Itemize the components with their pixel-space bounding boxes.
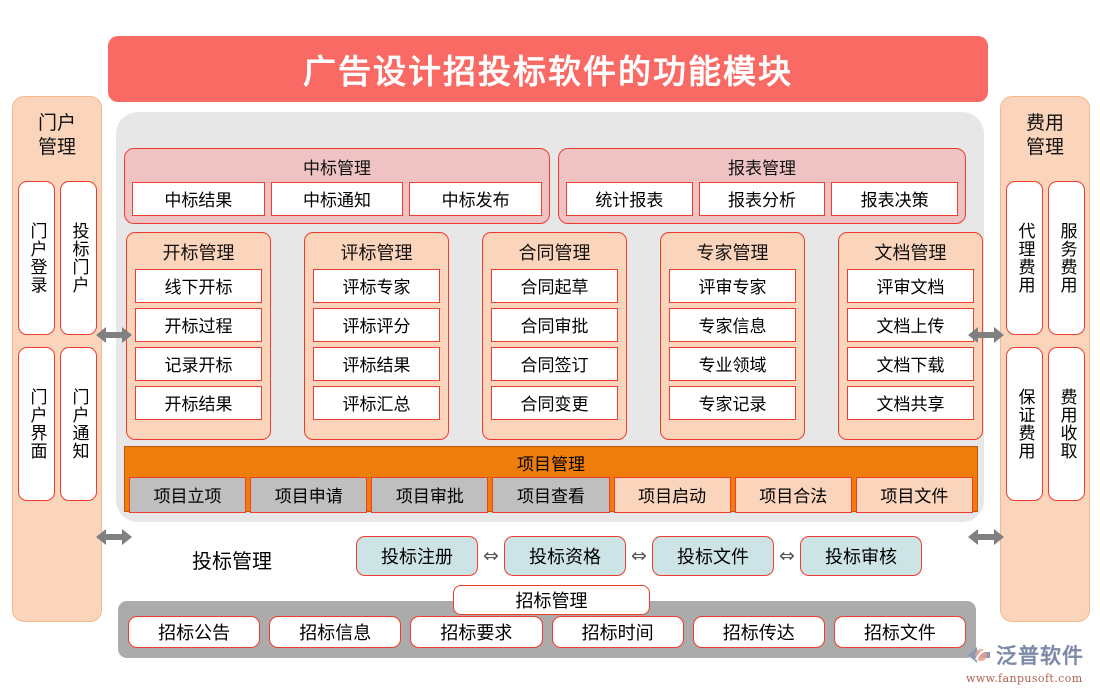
bid-opening-item-2[interactable]: 开标过程	[135, 308, 262, 342]
award-management-title: 中标管理	[125, 149, 549, 182]
fee-row-2: 保证费用 费用收取	[1007, 347, 1083, 487]
project-item-4[interactable]: 项目查看	[492, 477, 609, 513]
bidding-management-label: 投标管理	[192, 545, 272, 574]
bid-opening-items: 线下开标 开标过程 记录开标 开标结果	[135, 269, 262, 420]
project-item-3[interactable]: 项目审批	[371, 477, 488, 513]
contract-item-4[interactable]: 合同变更	[491, 386, 618, 420]
expert-item-4[interactable]: 专家记录	[669, 386, 796, 420]
fanpu-logo-icon	[966, 643, 992, 667]
connector-arrow-right-top-icon	[968, 325, 1004, 345]
brand-logo: 泛普软件 www.fanpusoft.com	[966, 636, 1092, 688]
document-item-3[interactable]: 文档下载	[847, 347, 974, 381]
fee-item-collection[interactable]: 费用收取	[1048, 347, 1085, 501]
award-item-notice[interactable]: 中标通知	[271, 182, 404, 216]
portal-management-panel[interactable]: 门户 管理 门户登录 投标门户 门户界面 门户通知	[12, 96, 102, 622]
bid-opening-item-3[interactable]: 记录开标	[135, 347, 262, 381]
portal-item-login[interactable]: 门户登录	[18, 181, 55, 335]
bid-opening-title: 开标管理	[163, 233, 235, 269]
connector-arrow-left-bottom-icon	[96, 527, 132, 547]
contract-item-1[interactable]: 合同起草	[491, 269, 618, 303]
project-management-bar[interactable]: 项目管理 项目立项 项目申请 项目审批 项目查看 项目启动 项目合法 项目文件	[124, 446, 978, 512]
bid-evaluation-item-3[interactable]: 评标结果	[313, 347, 440, 381]
fee-management-title: 费用 管理	[1001, 97, 1089, 159]
bid-evaluation-item-2[interactable]: 评标评分	[313, 308, 440, 342]
portal-item-interface[interactable]: 门户界面	[18, 347, 55, 501]
expert-management-module[interactable]: 专家管理 评审专家 专家信息 专业领域 专家记录	[660, 232, 805, 440]
report-management-group[interactable]: 报表管理 统计报表 报表分析 报表决策	[558, 148, 966, 224]
bid-evaluation-item-1[interactable]: 评标专家	[313, 269, 440, 303]
portal-management-title: 门户 管理	[13, 97, 101, 159]
tender-item-5[interactable]: 招标传达	[693, 616, 825, 648]
award-item-result[interactable]: 中标结果	[132, 182, 265, 216]
bidding-arrow-icon-1: ⇔	[478, 547, 504, 566]
contract-management-title: 合同管理	[519, 233, 591, 269]
expert-item-3[interactable]: 专业领域	[669, 347, 796, 381]
portal-item-notice[interactable]: 门户通知	[60, 347, 97, 501]
report-management-title: 报表管理	[559, 149, 965, 182]
project-management-items: 项目立项 项目申请 项目审批 项目查看 项目启动 项目合法 项目文件	[125, 477, 977, 513]
report-management-items: 统计报表 报表分析 报表决策	[559, 182, 965, 223]
brand-name: 泛普软件	[996, 640, 1084, 670]
bid-evaluation-item-4[interactable]: 评标汇总	[313, 386, 440, 420]
contract-item-2[interactable]: 合同审批	[491, 308, 618, 342]
fee-item-deposit[interactable]: 保证费用	[1006, 347, 1043, 501]
report-item-analysis[interactable]: 报表分析	[699, 182, 826, 216]
project-item-6[interactable]: 项目合法	[735, 477, 852, 513]
bidding-item-review[interactable]: 投标审核	[800, 536, 922, 576]
tender-management-items: 招标公告 招标信息 招标要求 招标时间 招标传达 招标文件	[128, 616, 966, 648]
expert-management-title: 专家管理	[697, 233, 769, 269]
project-management-title: 项目管理	[125, 447, 977, 477]
bid-opening-item-1[interactable]: 线下开标	[135, 269, 262, 303]
contract-item-3[interactable]: 合同签订	[491, 347, 618, 381]
project-item-2[interactable]: 项目申请	[250, 477, 367, 513]
project-item-5[interactable]: 项目启动	[614, 477, 731, 513]
bidding-arrow-icon-2: ⇔	[626, 547, 652, 566]
document-management-items: 评审文档 文档上传 文档下载 文档共享	[847, 269, 974, 420]
document-item-2[interactable]: 文档上传	[847, 308, 974, 342]
bidding-item-register[interactable]: 投标注册	[356, 536, 478, 576]
fee-management-panel[interactable]: 费用 管理 代理费用 服务费用 保证费用 费用收取	[1000, 96, 1090, 622]
connector-arrow-left-top-icon	[96, 325, 132, 345]
tender-item-2[interactable]: 招标信息	[269, 616, 401, 648]
document-item-1[interactable]: 评审文档	[847, 269, 974, 303]
document-item-4[interactable]: 文档共享	[847, 386, 974, 420]
project-item-1[interactable]: 项目立项	[129, 477, 246, 513]
bid-evaluation-title: 评标管理	[341, 233, 413, 269]
bid-evaluation-module[interactable]: 评标管理 评标专家 评标评分 评标结果 评标汇总	[304, 232, 449, 440]
diagram-canvas: 广告设计招投标软件的功能模块 门户 管理 门户登录 投标门户 门户界面 门户通知…	[0, 0, 1100, 700]
report-item-statistics[interactable]: 统计报表	[566, 182, 693, 216]
expert-item-1[interactable]: 评审专家	[669, 269, 796, 303]
tender-item-1[interactable]: 招标公告	[128, 616, 260, 648]
page-title: 广告设计招投标软件的功能模块	[108, 36, 988, 102]
bid-opening-item-4[interactable]: 开标结果	[135, 386, 262, 420]
award-management-items: 中标结果 中标通知 中标发布	[125, 182, 549, 223]
document-management-title: 文档管理	[875, 233, 947, 269]
award-item-publish[interactable]: 中标发布	[409, 182, 542, 216]
tender-management-label: 招标管理	[453, 585, 650, 615]
fee-item-service[interactable]: 服务费用	[1048, 181, 1085, 335]
expert-management-items: 评审专家 专家信息 专业领域 专家记录	[669, 269, 796, 420]
tender-item-4[interactable]: 招标时间	[552, 616, 684, 648]
bidding-item-qualification[interactable]: 投标资格	[504, 536, 626, 576]
connector-arrow-right-bottom-icon	[968, 527, 1004, 547]
bidding-flow-row: 投标注册 ⇔ 投标资格 ⇔ 投标文件 ⇔ 投标审核	[356, 536, 922, 576]
expert-item-2[interactable]: 专家信息	[669, 308, 796, 342]
tender-item-6[interactable]: 招标文件	[834, 616, 966, 648]
tender-item-3[interactable]: 招标要求	[410, 616, 542, 648]
fee-row-1: 代理费用 服务费用	[1007, 181, 1083, 321]
document-management-module[interactable]: 文档管理 评审文档 文档上传 文档下载 文档共享	[838, 232, 983, 440]
brand-url: www.fanpusoft.com	[966, 672, 1083, 685]
project-item-7[interactable]: 项目文件	[856, 477, 973, 513]
portal-row-2: 门户界面 门户通知	[19, 347, 95, 487]
portal-item-bid-portal[interactable]: 投标门户	[60, 181, 97, 335]
award-management-group[interactable]: 中标管理 中标结果 中标通知 中标发布	[124, 148, 550, 224]
report-item-decision[interactable]: 报表决策	[831, 182, 958, 216]
contract-management-items: 合同起草 合同审批 合同签订 合同变更	[491, 269, 618, 420]
fee-item-agency[interactable]: 代理费用	[1006, 181, 1043, 335]
brand-logo-top: 泛普软件	[966, 640, 1084, 670]
portal-row-1: 门户登录 投标门户	[19, 181, 95, 321]
bid-evaluation-items: 评标专家 评标评分 评标结果 评标汇总	[313, 269, 440, 420]
contract-management-module[interactable]: 合同管理 合同起草 合同审批 合同签订 合同变更	[482, 232, 627, 440]
bidding-arrow-icon-3: ⇔	[774, 547, 800, 566]
bid-opening-module[interactable]: 开标管理 线下开标 开标过程 记录开标 开标结果	[126, 232, 271, 440]
bidding-item-document[interactable]: 投标文件	[652, 536, 774, 576]
